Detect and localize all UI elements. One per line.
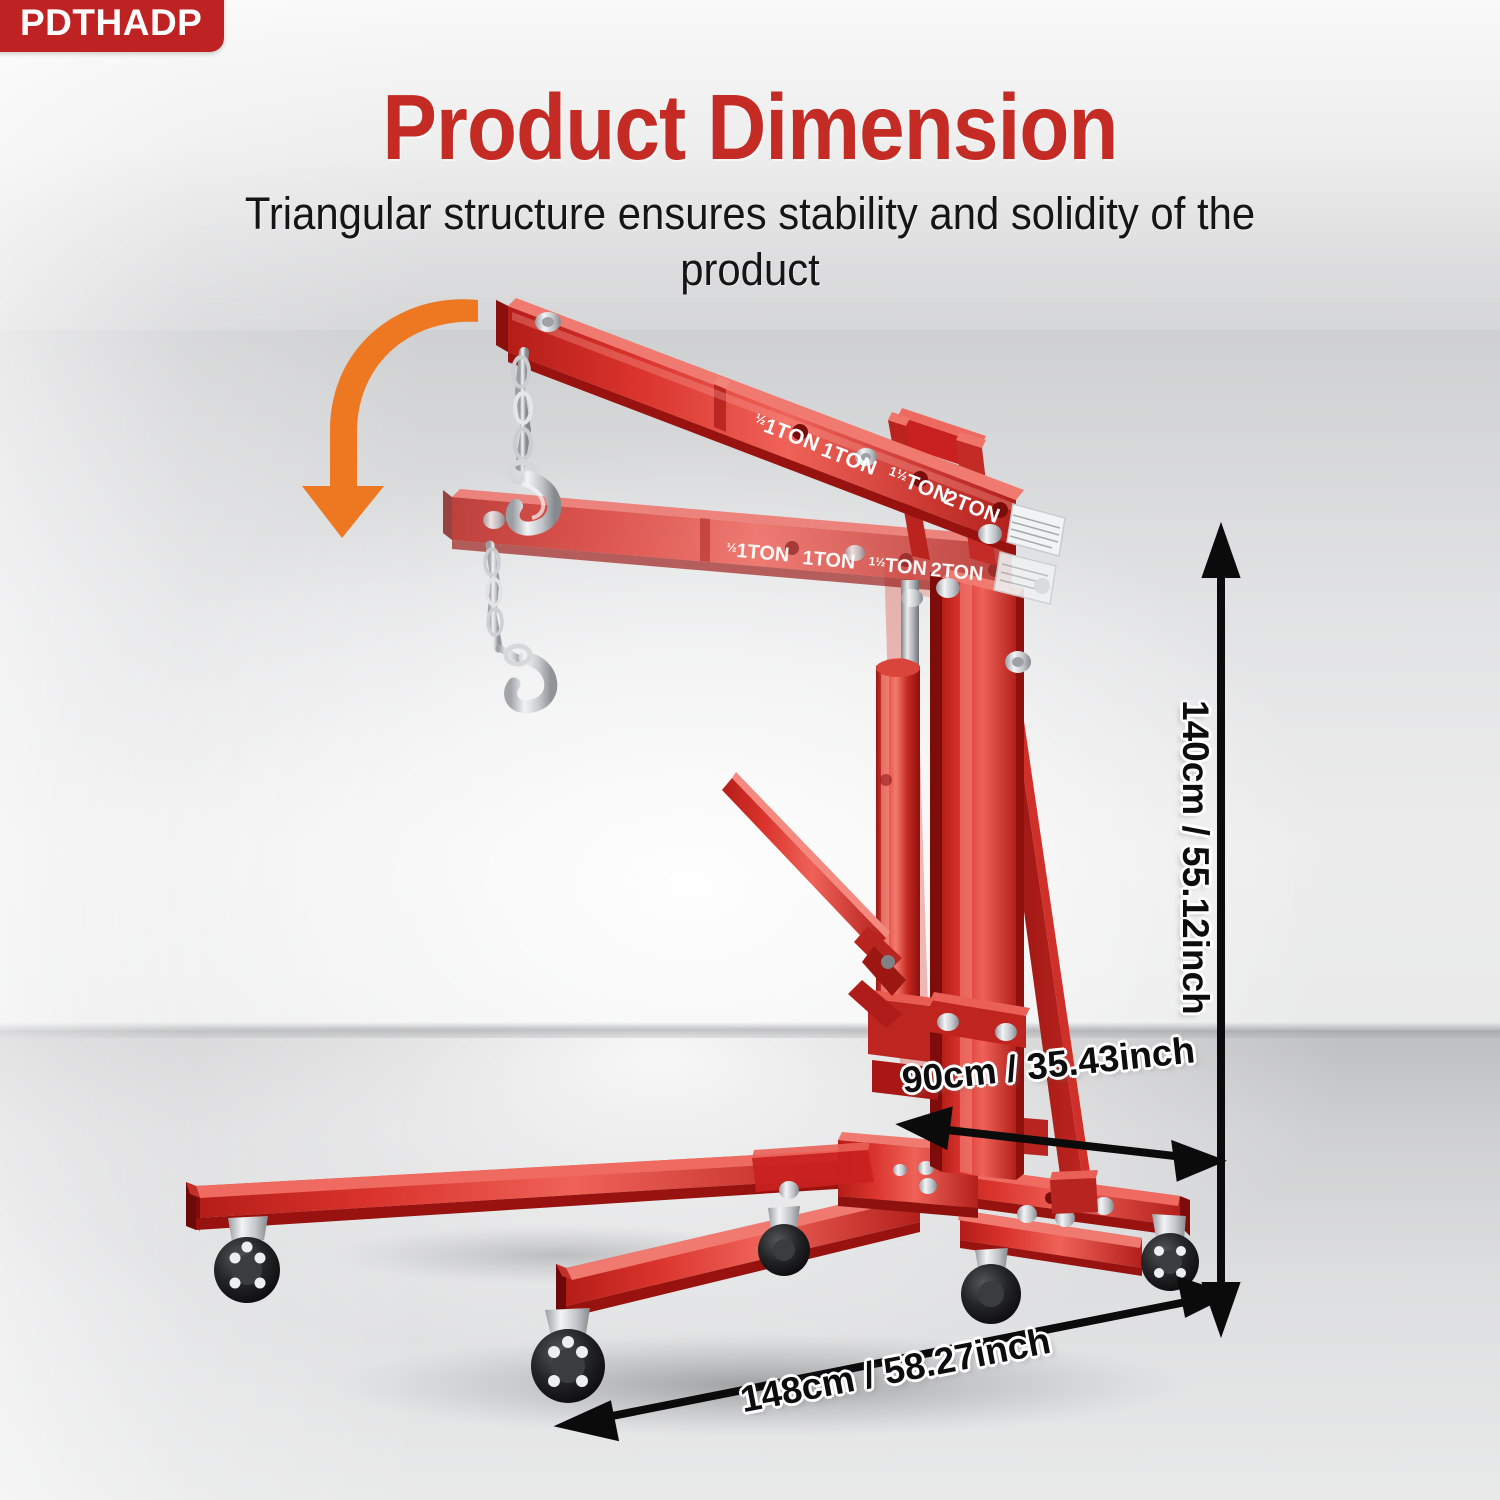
dimension-label-height-text: 140cm / 55.12inch	[1175, 700, 1216, 1015]
page-title: Product Dimension	[90, 74, 1410, 181]
infographic-canvas: ½1TON 1TON 1½TON 2TON ½1TON 1TON 1½TON 2…	[0, 0, 1500, 1500]
brand-logo-badge: PDTHADP	[0, 0, 224, 52]
page-subtitle: Triangular structure ensures stability a…	[220, 186, 1280, 298]
dimension-label-height: 140cm / 55.12inch	[1174, 700, 1216, 1015]
brand-logo-text: PDTHADP	[20, 4, 202, 41]
dimension-arrow-depth	[906, 1112, 1216, 1176]
